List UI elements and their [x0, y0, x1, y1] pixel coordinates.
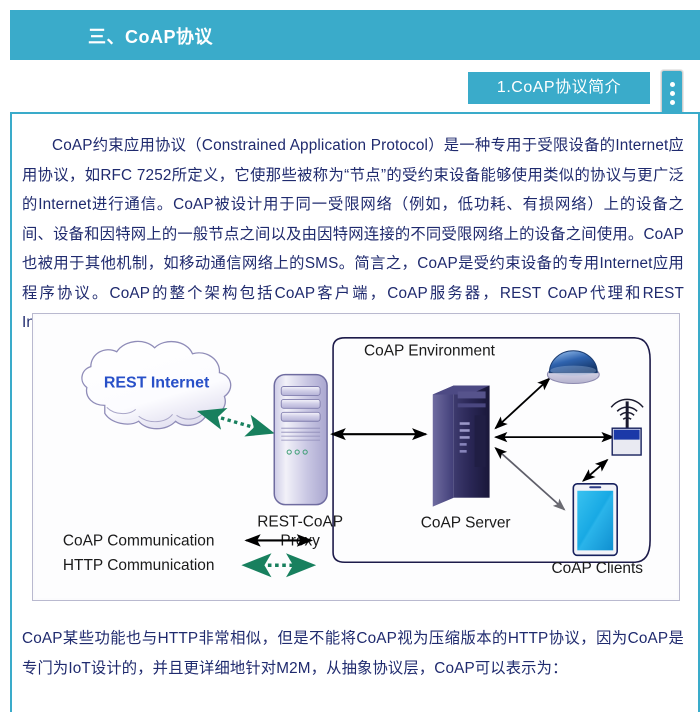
tab-coap-intro[interactable]: 1.CoAP协议简介	[468, 72, 650, 104]
kebab-menu-icon[interactable]	[661, 70, 683, 115]
kebab-dot-middle	[670, 91, 675, 96]
legend-label-http: HTTP Communication	[63, 557, 215, 574]
server-label: CoAP Server	[421, 515, 511, 532]
intro-paragraph: CoAP约束应用协议（Constrained Application Proto…	[22, 131, 684, 338]
environment-label: CoAP Environment	[364, 343, 496, 360]
figure-canvas: CoAP Environment REST Internet	[35, 316, 677, 598]
cloud-label: REST Internet	[104, 375, 210, 392]
kebab-dot-bottom	[670, 100, 675, 105]
section-header-banner: 三、CoAP协议	[10, 10, 700, 60]
page-title: 三、CoAP协议	[88, 23, 213, 49]
content-panel: CoAP约束应用协议（Constrained Application Proto…	[10, 112, 700, 712]
coap-architecture-svg: CoAP Environment REST Internet	[35, 316, 677, 598]
coap-architecture-figure: CoAP Environment REST Internet	[32, 313, 680, 601]
clients-label: CoAP Clients	[551, 560, 643, 577]
tab-row: 1.CoAP协议简介	[0, 70, 700, 112]
kebab-dot-top	[670, 82, 675, 87]
tablet-device	[573, 484, 617, 555]
legend-label-coap: CoAP Communication	[63, 532, 215, 549]
followup-paragraph: CoAP某些功能也与HTTP非常相似，但是不能将CoAP视为压缩版本的HTTP协…	[22, 624, 684, 683]
proxy-label-line1: REST-CoAP	[257, 514, 343, 531]
